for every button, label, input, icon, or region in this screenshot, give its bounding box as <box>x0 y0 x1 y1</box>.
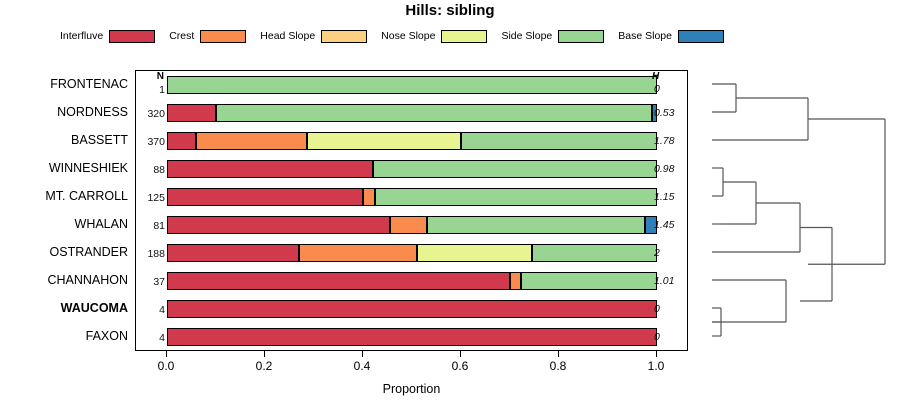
n-value: 37 <box>136 276 165 288</box>
stacked-bar[interactable] <box>167 272 657 290</box>
stacked-bar[interactable] <box>167 244 657 262</box>
y-axis-label-nordness: NORDNESS <box>0 105 128 119</box>
x-tick <box>656 351 657 357</box>
chart-row: 4 <box>136 323 689 351</box>
bar-segment-interfluve[interactable] <box>167 132 196 150</box>
n-value: 88 <box>136 164 165 176</box>
n-column-header: N <box>135 71 164 82</box>
legend-swatch <box>109 30 155 43</box>
bar-segment-interfluve[interactable] <box>167 160 373 178</box>
y-axis-label-channahon: CHANNAHON <box>0 273 128 287</box>
h-value: 1.15 <box>654 191 694 203</box>
legend-swatch <box>321 30 367 43</box>
bar-segment-side-slope[interactable] <box>461 132 657 150</box>
stacked-bar[interactable] <box>167 160 657 178</box>
n-value: 4 <box>136 332 165 344</box>
chart-row: 4 <box>136 295 689 323</box>
stacked-bar[interactable] <box>167 300 657 318</box>
h-value: 0.53 <box>654 107 694 119</box>
bar-segment-nose-slope[interactable] <box>417 244 532 262</box>
y-axis-label-winneshiek: WINNESHIEK <box>0 161 128 175</box>
y-axis-label-bassett: BASSETT <box>0 133 128 147</box>
stacked-bar[interactable] <box>167 328 657 346</box>
bar-segment-interfluve[interactable] <box>167 216 390 234</box>
chart-row: 88 <box>136 155 689 183</box>
stacked-bar[interactable] <box>167 132 657 150</box>
legend-label: Side Slope <box>501 30 552 42</box>
n-value: 4 <box>136 304 165 316</box>
chart-row: 320 <box>136 99 689 127</box>
h-value: 0.98 <box>654 163 694 175</box>
x-tick <box>264 351 265 357</box>
chart-row: 188 <box>136 239 689 267</box>
h-value: 0 <box>654 331 694 343</box>
h-value: 2 <box>654 247 694 259</box>
plot-area: 132037088125811883744 <box>135 70 688 351</box>
y-axis-label-faxon: FAXON <box>0 329 128 343</box>
x-tick <box>558 351 559 357</box>
bar-segment-side-slope[interactable] <box>375 188 657 206</box>
legend-swatch <box>200 30 246 43</box>
x-tick-label: 0.0 <box>146 359 186 373</box>
legend-label: Base Slope <box>618 30 672 42</box>
bar-segment-crest[interactable] <box>299 244 417 262</box>
bar-segment-crest[interactable] <box>196 132 306 150</box>
page-title: Hills: sibling <box>0 2 900 19</box>
y-axis-label-frontenac: FRONTENAC <box>0 77 128 91</box>
y-axis-label-mt-carroll: MT. CARROLL <box>0 189 128 203</box>
bar-segment-side-slope[interactable] <box>427 216 645 234</box>
chart-root: Hills: sibling InterfluveCrestHead Slope… <box>0 0 900 420</box>
bar-segment-crest[interactable] <box>390 216 427 234</box>
h-value: 0 <box>654 83 694 95</box>
dendrogram <box>690 60 900 360</box>
x-tick-label: 0.2 <box>244 359 284 373</box>
legend-item-base-slope[interactable]: Base Slope <box>618 30 724 43</box>
bar-segment-side-slope[interactable] <box>216 104 652 122</box>
n-value: 320 <box>136 108 165 120</box>
legend-label: Crest <box>169 30 194 42</box>
bar-segment-interfluve[interactable] <box>167 300 657 318</box>
y-axis-label-ostrander: OSTRANDER <box>0 245 128 259</box>
bar-segment-side-slope[interactable] <box>167 76 657 94</box>
bar-segment-interfluve[interactable] <box>167 188 363 206</box>
legend-item-nose-slope[interactable]: Nose Slope <box>381 30 487 43</box>
stacked-bar[interactable] <box>167 104 657 122</box>
bar-segment-interfluve[interactable] <box>167 272 510 290</box>
h-value: 1.01 <box>654 275 694 287</box>
legend-label: Nose Slope <box>381 30 435 42</box>
x-tick-label: 0.4 <box>342 359 382 373</box>
n-value: 81 <box>136 220 165 232</box>
bar-segment-side-slope[interactable] <box>521 272 657 290</box>
x-tick <box>362 351 363 357</box>
stacked-bar[interactable] <box>167 216 657 234</box>
legend-label: Interfluve <box>60 30 103 42</box>
x-axis-title: Proportion <box>135 382 688 396</box>
legend-swatch <box>678 30 724 43</box>
x-tick-label: 0.6 <box>440 359 480 373</box>
n-value: 125 <box>136 192 165 204</box>
chart-row: 81 <box>136 211 689 239</box>
bar-segment-interfluve[interactable] <box>167 328 657 346</box>
bar-segment-interfluve[interactable] <box>167 244 299 262</box>
x-tick-label: 0.8 <box>538 359 578 373</box>
n-value: 370 <box>136 136 165 148</box>
x-tick <box>166 351 167 357</box>
legend-item-interfluve[interactable]: Interfluve <box>60 30 155 43</box>
chart-row: 370 <box>136 127 689 155</box>
legend-label: Head Slope <box>260 30 315 42</box>
bar-segment-interfluve[interactable] <box>167 104 216 122</box>
h-column-header: H <box>652 71 686 82</box>
bar-segment-crest[interactable] <box>363 188 375 206</box>
h-value: 0 <box>654 303 694 315</box>
bar-segment-side-slope[interactable] <box>532 244 657 262</box>
chart-row: 37 <box>136 267 689 295</box>
h-value: 1.78 <box>654 135 694 147</box>
y-axis-label-whalan: WHALAN <box>0 217 128 231</box>
legend-item-side-slope[interactable]: Side Slope <box>501 30 604 43</box>
bar-segment-crest[interactable] <box>510 272 521 290</box>
chart-row: 1 <box>136 71 689 99</box>
x-tick <box>460 351 461 357</box>
stacked-bar[interactable] <box>167 188 657 206</box>
n-value: 1 <box>136 84 165 96</box>
h-value: 1.45 <box>654 219 694 231</box>
y-axis-label-waucoma: WAUCOMA <box>0 301 128 315</box>
stacked-bar[interactable] <box>167 76 657 94</box>
chart-row: 125 <box>136 183 689 211</box>
n-value: 188 <box>136 248 165 260</box>
x-axis: 0.00.20.40.60.81.0 <box>135 351 688 381</box>
x-tick-label: 1.0 <box>636 359 676 373</box>
bar-segment-nose-slope[interactable] <box>307 132 461 150</box>
legend: InterfluveCrestHead SlopeNose SlopeSide … <box>60 26 780 46</box>
legend-swatch <box>441 30 487 43</box>
legend-item-crest[interactable]: Crest <box>169 30 246 43</box>
bar-segment-side-slope[interactable] <box>373 160 657 178</box>
legend-item-head-slope[interactable]: Head Slope <box>260 30 367 43</box>
legend-swatch <box>558 30 604 43</box>
